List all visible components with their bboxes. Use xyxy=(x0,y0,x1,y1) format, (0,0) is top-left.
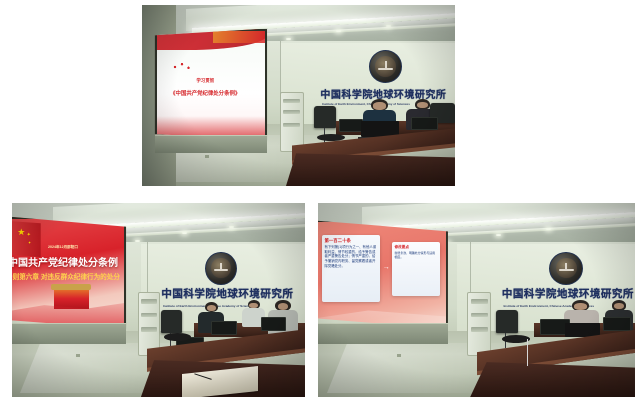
person-face xyxy=(278,303,289,310)
screen-frame xyxy=(12,217,126,330)
air-conditioner xyxy=(280,92,304,152)
emblem-inner xyxy=(211,258,230,279)
photo-top-overview[interactable]: 学习贯彻 《中国共产党纪律处分条例》 中国科学院地球环境研究所 Institut… xyxy=(142,5,455,186)
person-face xyxy=(417,102,428,108)
ac-vent xyxy=(471,327,488,331)
conference-table-front xyxy=(470,362,635,397)
radiator-cover xyxy=(155,135,268,152)
equipment-cable xyxy=(527,339,528,366)
table-microphone xyxy=(164,333,190,341)
screen-frame xyxy=(155,29,268,141)
wall-outlet xyxy=(76,354,80,357)
emblem-glyph-bar xyxy=(559,269,574,271)
ceiling-downlight xyxy=(496,234,501,236)
person-face xyxy=(373,102,386,109)
desk-monitor xyxy=(261,317,286,331)
office-chair xyxy=(314,106,336,128)
air-conditioner xyxy=(467,292,491,356)
photo-bottom-right-content-slide[interactable]: 第一百二十条 有下列第(1)项行为之一、有他人谋取利益、情节较重的，给予警告或者… xyxy=(318,203,635,397)
emblem-glyph-bar xyxy=(214,269,228,271)
institute-emblem xyxy=(369,50,402,83)
ac-vent xyxy=(283,123,300,127)
ac-vent xyxy=(283,110,300,114)
table-microphone xyxy=(317,134,345,141)
desk-monitor xyxy=(339,119,363,132)
table-microphone xyxy=(502,335,531,343)
conference-room-scene: 学习贯彻 《中国共产党纪律处分条例》 中国科学院地球环境研究所 Institut… xyxy=(142,5,455,186)
radiator-cover xyxy=(318,323,448,343)
ac-vent xyxy=(471,299,488,303)
wall-outlet xyxy=(397,354,401,357)
projection-screen: 第一百二十条 有下列第(1)项行为之一、有他人谋取利益、情节较重的，给予警告或者… xyxy=(318,220,448,329)
wall-outlet xyxy=(205,155,209,158)
person-face xyxy=(207,305,216,311)
emblem-glyph-bar xyxy=(378,68,393,70)
institute-emblem xyxy=(549,252,583,285)
projection-screen: 学习贯彻 《中国共产党纪律处分条例》 xyxy=(155,29,268,141)
conference-room-scene: 第一百二十条 有下列第(1)项行为之一、有他人谋取利益、情节较重的，给予警告或者… xyxy=(318,203,635,397)
conference-room-scene: ★ ✦ ✦ 2024年12月邵阳口 中国共产党纪律处分条例 分则第六章 对违反群… xyxy=(12,203,305,397)
institute-emblem xyxy=(205,252,236,285)
ceiling-downlight xyxy=(386,25,391,27)
desk-monitor xyxy=(603,317,630,331)
ac-vent xyxy=(471,313,488,317)
person-face xyxy=(574,303,587,310)
screen-frame xyxy=(318,220,448,329)
projection-screen: ★ ✦ ✦ 2024年12月邵阳口 中国共产党纪律处分条例 分则第六章 对违反群… xyxy=(12,217,126,330)
person-face xyxy=(249,303,257,308)
desk-monitor xyxy=(411,117,438,130)
ac-vent xyxy=(141,327,157,331)
conference-table-front xyxy=(286,153,455,186)
photo-bottom-left-title-slide[interactable]: ★ ✦ ✦ 2024年12月邵阳口 中国共产党纪律处分条例 分则第六章 对违反群… xyxy=(12,203,305,397)
ac-vent xyxy=(283,99,300,103)
radiator-cover xyxy=(12,323,126,343)
office-chair xyxy=(496,310,518,333)
office-chair xyxy=(161,310,182,333)
ac-vent xyxy=(141,299,157,303)
emblem-inner xyxy=(556,258,577,279)
desk-monitor xyxy=(211,321,236,335)
ceiling-downlight xyxy=(286,38,291,40)
person-face xyxy=(614,303,624,309)
ac-vent xyxy=(141,313,157,317)
emblem-inner xyxy=(375,56,396,76)
